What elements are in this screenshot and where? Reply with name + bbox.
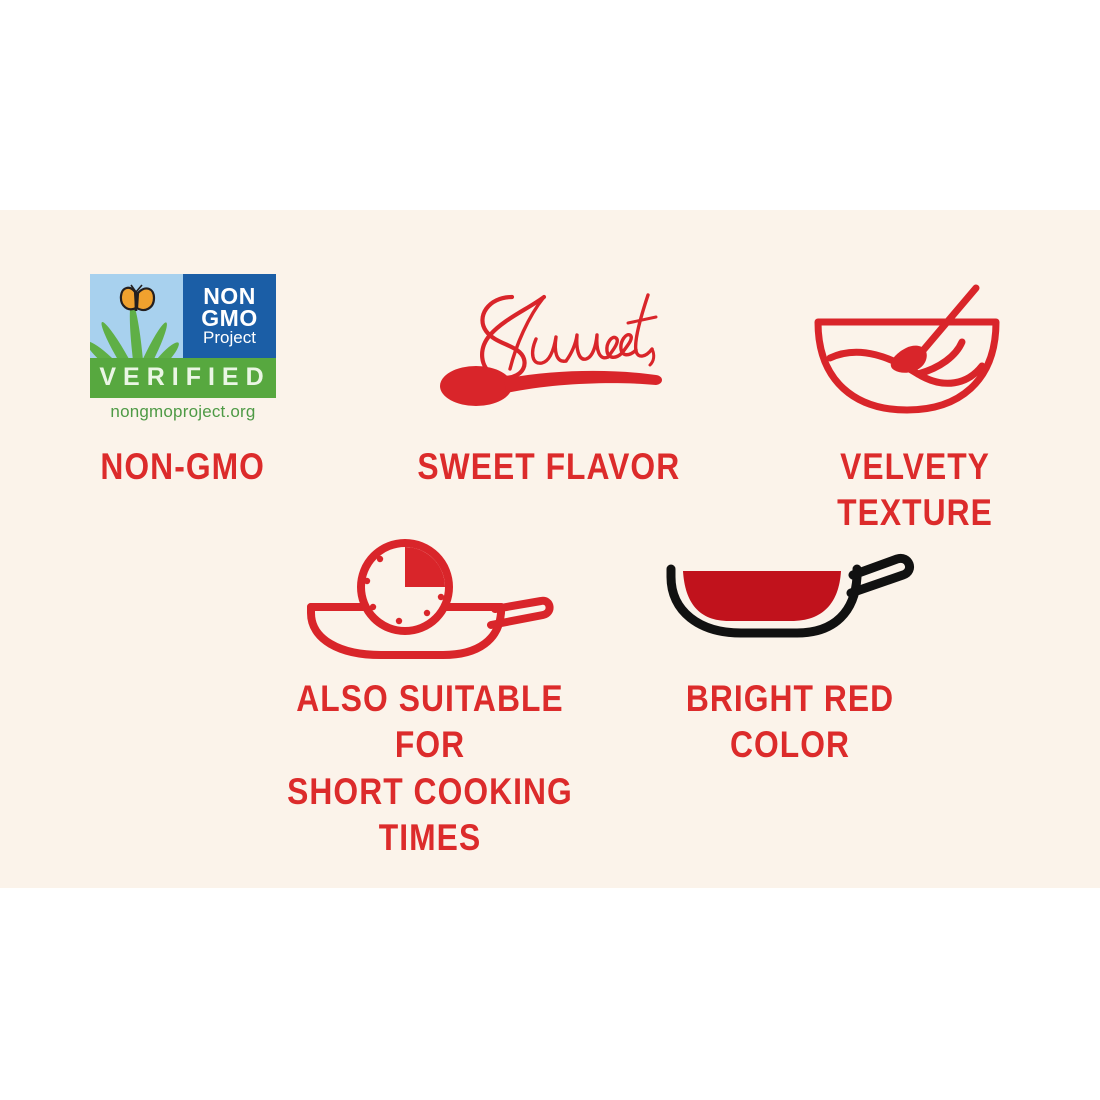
clock-filled-quadrant bbox=[405, 547, 445, 587]
velvety-texture-icon-container bbox=[800, 258, 1030, 438]
butterfly-icon bbox=[112, 282, 162, 324]
seal-verified-band: VERIFIED bbox=[90, 358, 276, 398]
seal-line-project: Project bbox=[203, 330, 256, 346]
seal-line-gmo: GMO bbox=[201, 308, 257, 330]
feature-label-bright-red-color: BRIGHT RED COLOR bbox=[635, 676, 945, 769]
bright-red-color-icon-container bbox=[655, 530, 925, 670]
feature-label-velvety-texture: VELVETY TEXTURE bbox=[758, 444, 1073, 537]
pan-with-clock-icon bbox=[295, 535, 565, 665]
bowl-with-spoon-icon bbox=[800, 278, 1030, 418]
feature-label-short-cooking-times: ALSO SUITABLE FOR SHORT COOKING TIMES bbox=[275, 676, 585, 861]
feature-non-gmo: NON GMO Project VERIFIED nongmoproject.o… bbox=[0, 258, 366, 548]
non-gmo-icon-container: NON GMO Project VERIFIED nongmoproject.o… bbox=[90, 258, 276, 438]
feature-bright-red-color: BRIGHT RED COLOR bbox=[610, 530, 970, 870]
seal-text-panel: NON GMO Project bbox=[183, 274, 276, 358]
seal-butterfly-grass-panel bbox=[90, 274, 183, 358]
seal-url-text: nongmoproject.org bbox=[90, 398, 276, 422]
feature-panel: NON GMO Project VERIFIED nongmoproject.o… bbox=[0, 210, 1100, 888]
sweet-flavor-icon-container bbox=[424, 258, 674, 438]
feature-velvety-texture: VELVETY TEXTURE bbox=[732, 258, 1098, 548]
feature-label-non-gmo: NON-GMO bbox=[101, 444, 266, 490]
feature-row-bottom: ALSO SUITABLE FOR SHORT COOKING TIMES BR… bbox=[0, 530, 1100, 870]
pan-filled-red-icon bbox=[655, 545, 925, 655]
non-gmo-project-verified-seal-icon: NON GMO Project VERIFIED nongmoproject.o… bbox=[90, 274, 276, 422]
pan-red-fill bbox=[683, 571, 841, 621]
feature-label-sweet-flavor: SWEET FLAVOR bbox=[418, 444, 681, 490]
short-cooking-times-icon-container bbox=[295, 530, 565, 670]
feature-short-cooking-times: ALSO SUITABLE FOR SHORT COOKING TIMES bbox=[250, 530, 610, 870]
spoon-bowl-shape bbox=[891, 346, 927, 373]
sweet-script-spoon-icon bbox=[424, 283, 674, 413]
feature-sweet-flavor: SWEET FLAVOR bbox=[366, 258, 732, 548]
feature-row-top: NON GMO Project VERIFIED nongmoproject.o… bbox=[0, 258, 1100, 548]
seal-main: NON GMO Project bbox=[90, 274, 276, 358]
